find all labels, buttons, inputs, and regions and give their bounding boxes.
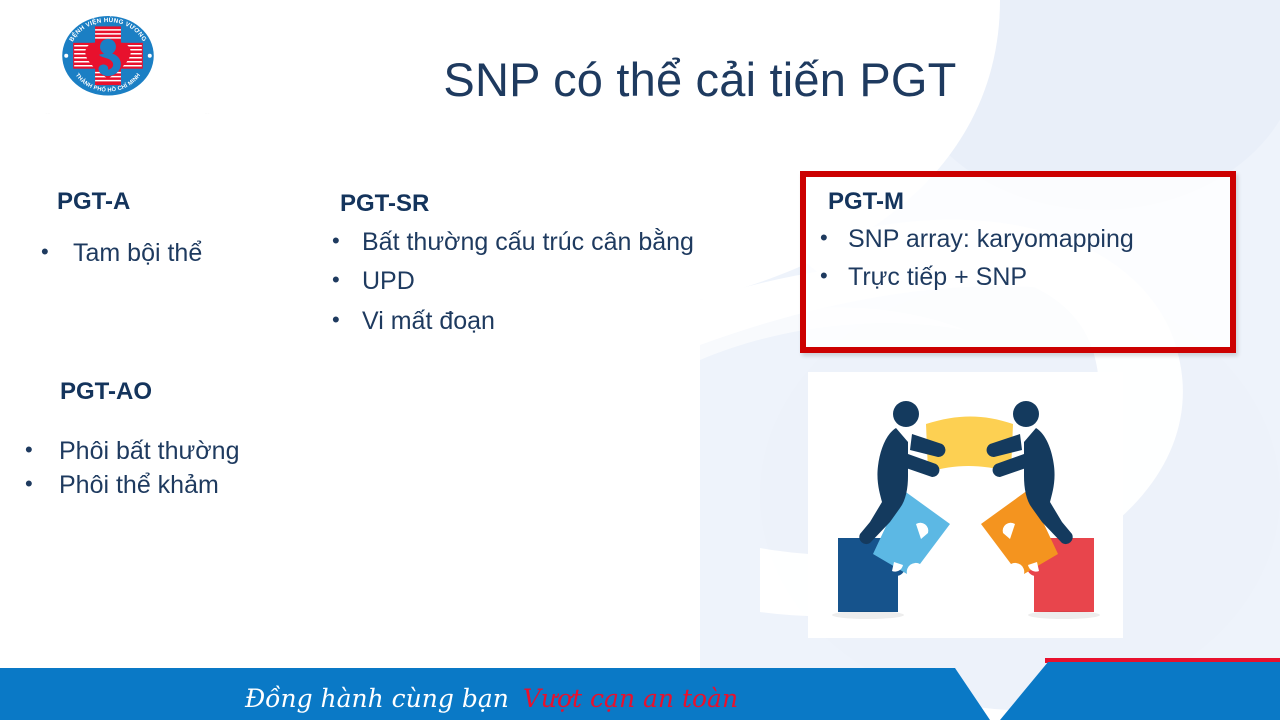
list-item-label: Vi mất đoạn (362, 304, 802, 339)
list-item-label: Phôi thể khảm (59, 468, 345, 503)
pgt-m-section: PGT-M • SNP array: karyomapping • Trực t… (806, 177, 1230, 295)
pgt-sr-heading: PGT-SR (332, 190, 802, 218)
bullet-icon: • (332, 264, 362, 296)
list-item-label: UPD (362, 264, 802, 299)
footer-slogan: Đồng hành cùng bạnVượt cạn an toàn (245, 684, 738, 713)
list-item-label: SNP array: karyomapping (848, 222, 1220, 257)
bullet-icon: • (25, 468, 59, 500)
slide-canvas: BỆNH VIỆN HÙNG VƯƠNG THÀNH PHỐ HỒ CHÍ MI… (0, 0, 1280, 720)
page-title: SNP có thể cải tiến PGT (260, 54, 1140, 106)
hospital-logo-icon: BỆNH VIỆN HÙNG VƯƠNG THÀNH PHỐ HỒ CHÍ MI… (58, 10, 158, 102)
footer-slogan-accent: Vượt cạn an toàn (523, 684, 738, 713)
pgt-sr-bullet-list: • Bất thường cấu trúc cân bằng • UPD • V… (332, 225, 802, 339)
pgt-ao-section: PGT-AO • Phôi bất thường • Phôi thể khảm (25, 378, 345, 503)
illustration-card (808, 372, 1123, 638)
list-item: • Phôi bất thường (25, 434, 345, 469)
footer-slogan-main: Đồng hành cùng bạn (245, 684, 509, 713)
teamwork-puzzle-bridge-icon (808, 372, 1123, 638)
pgt-m-bullet-list: • SNP array: karyomapping • Trực tiếp + … (820, 222, 1220, 295)
list-item-label: Phôi bất thường (59, 434, 345, 469)
list-item: • Tam bội thể (35, 236, 325, 271)
pgt-ao-bullet-list: • Phôi bất thường • Phôi thể khảm (25, 434, 345, 503)
bullet-icon: • (820, 260, 848, 292)
pgt-a-section: PGT-A • Tam bội thể (35, 188, 325, 270)
pgt-a-heading: PGT-A (35, 188, 325, 216)
list-item-label: Bất thường cấu trúc cân bằng (362, 225, 802, 260)
bullet-icon: • (41, 236, 73, 268)
footer: Đồng hành cùng bạnVượt cạn an toàn (0, 640, 1280, 720)
pgt-sr-section: PGT-SR • Bất thường cấu trúc cân bằng • … (332, 190, 802, 343)
pgt-ao-heading: PGT-AO (25, 378, 345, 406)
pgt-a-bullet-list: • Tam bội thể (35, 236, 325, 271)
pgt-m-highlight-box: PGT-M • SNP array: karyomapping • Trực t… (800, 171, 1236, 353)
footer-bar-right (1000, 662, 1280, 720)
pgt-m-heading: PGT-M (820, 188, 1220, 216)
list-item: • SNP array: karyomapping (820, 222, 1220, 257)
bullet-icon: • (332, 304, 362, 336)
hospital-logo-svg: BỆNH VIỆN HÙNG VƯƠNG THÀNH PHỐ HỒ CHÍ MI… (58, 10, 158, 102)
list-item: • Trực tiếp + SNP (820, 260, 1220, 295)
bullet-icon: • (25, 434, 59, 466)
list-item-label: Tam bội thể (73, 236, 325, 271)
list-item: • Bất thường cấu trúc cân bằng (332, 225, 802, 260)
list-item: • Vi mất đoạn (332, 304, 802, 339)
list-item: • UPD (332, 264, 802, 299)
list-item-label: Trực tiếp + SNP (848, 260, 1220, 295)
list-item: • Phôi thể khảm (25, 468, 345, 503)
bullet-icon: • (820, 222, 848, 254)
bullet-icon: • (332, 225, 362, 257)
